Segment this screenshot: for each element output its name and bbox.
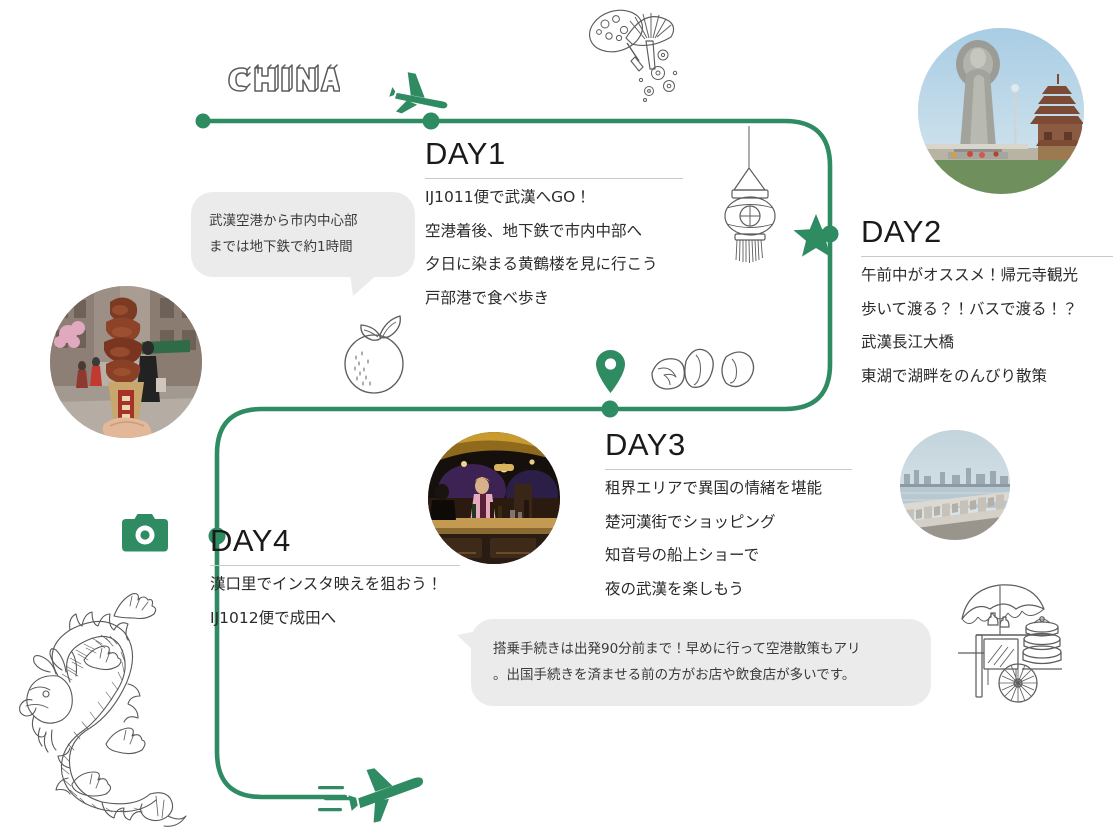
day-line: 空港着後、地下鉄で市内中部へ	[425, 224, 683, 240]
day-title-day2: DAY2	[861, 215, 1113, 249]
china-brand-logo	[222, 58, 340, 104]
day-line: IJ1011便で武漢へGO！	[425, 190, 683, 206]
day-line: 楚河漢街でショッピング	[605, 515, 852, 531]
camera-icon	[122, 514, 168, 552]
star-icon	[793, 213, 839, 258]
day-rule	[605, 469, 852, 470]
callout-checkin: 搭乗手続きは出発90分前まで！早めに行って空港散策もアリ 。出国手続きを済ませる…	[471, 619, 931, 706]
timeline-node-start	[196, 114, 211, 129]
day-line: 午前中がオススメ！帰元寺観光	[861, 268, 1113, 284]
day-title-day1: DAY1	[425, 137, 683, 171]
day-line: 戸部港で食べ歩き	[425, 291, 683, 307]
day-title-day3: DAY3	[605, 428, 852, 462]
dragon-icon	[18, 578, 198, 829]
airplane-icon	[388, 72, 450, 126]
day-block-day1: DAY1 IJ1011便で武漢へGO！ 空港着後、地下鉄で市内中部へ 夕日に染ま…	[425, 137, 683, 306]
day-line: IJ1012便で成田へ	[210, 611, 460, 627]
timeline-node-day3	[602, 401, 619, 418]
day-rule	[861, 256, 1113, 257]
airplane-departing-icon	[318, 764, 430, 826]
day-line: 歩いて渡る？！バスで渡る！？	[861, 302, 1113, 318]
callout-tail	[457, 629, 487, 665]
chinese-lantern-icon	[713, 126, 795, 266]
paper-fans-icon	[583, 3, 689, 115]
photo-lakeside	[900, 430, 1010, 540]
dumplings-icon	[648, 343, 758, 397]
day-line: 漢口里でインスタ映えを狙おう！	[210, 577, 460, 593]
day-rule	[210, 565, 460, 566]
day-title-day4: DAY4	[210, 524, 460, 558]
map-pin-icon	[596, 350, 625, 393]
callout-line: 武漢空港から市内中心部	[209, 208, 401, 234]
photo-streetfood	[50, 286, 202, 438]
day-line: 武漢長江大橋	[861, 335, 1113, 351]
day-line: 租界エリアで異国の情緒を堪能	[605, 481, 852, 497]
day-block-day2: DAY2 午前中がオススメ！帰元寺観光 歩いて渡る？！バスで渡る！？ 武漢長江大…	[861, 215, 1113, 384]
day-rule	[425, 178, 683, 179]
photo-statue	[918, 28, 1084, 194]
street-food-cart-icon	[958, 583, 1078, 705]
callout-line: 搭乗手続きは出発90分前まで！早めに行って空港散策もアリ	[493, 636, 913, 662]
callout-line: 。出国手続きを済ませる前の方がお店や飲食店が多いです。	[493, 662, 913, 688]
callout-line: までは地下鉄で約1時間	[209, 234, 401, 260]
day-line: 東湖で湖畔をのんびり散策	[861, 369, 1113, 385]
orange-fruit-icon	[330, 312, 420, 398]
itinerary-canvas: DAY1 IJ1011便で武漢へGO！ 空港着後、地下鉄で市内中部へ 夕日に染ま…	[0, 0, 1120, 829]
day-line: 夕日に染まる黄鶴楼を見に行こう	[425, 257, 683, 273]
day-line: 知音号の船上ショーで	[605, 548, 852, 564]
day-block-day3: DAY3 租界エリアで異国の情緒を堪能 楚河漢街でショッピング 知音号の船上ショ…	[605, 428, 852, 597]
day-line: 夜の武漢を楽しもう	[605, 582, 852, 598]
callout-airport-access: 武漢空港から市内中心部 までは地下鉄で約1時間	[191, 192, 415, 277]
day-block-day4: DAY4 漢口里でインスタ映えを狙おう！ IJ1012便で成田へ	[210, 524, 460, 626]
callout-tail	[349, 266, 389, 298]
